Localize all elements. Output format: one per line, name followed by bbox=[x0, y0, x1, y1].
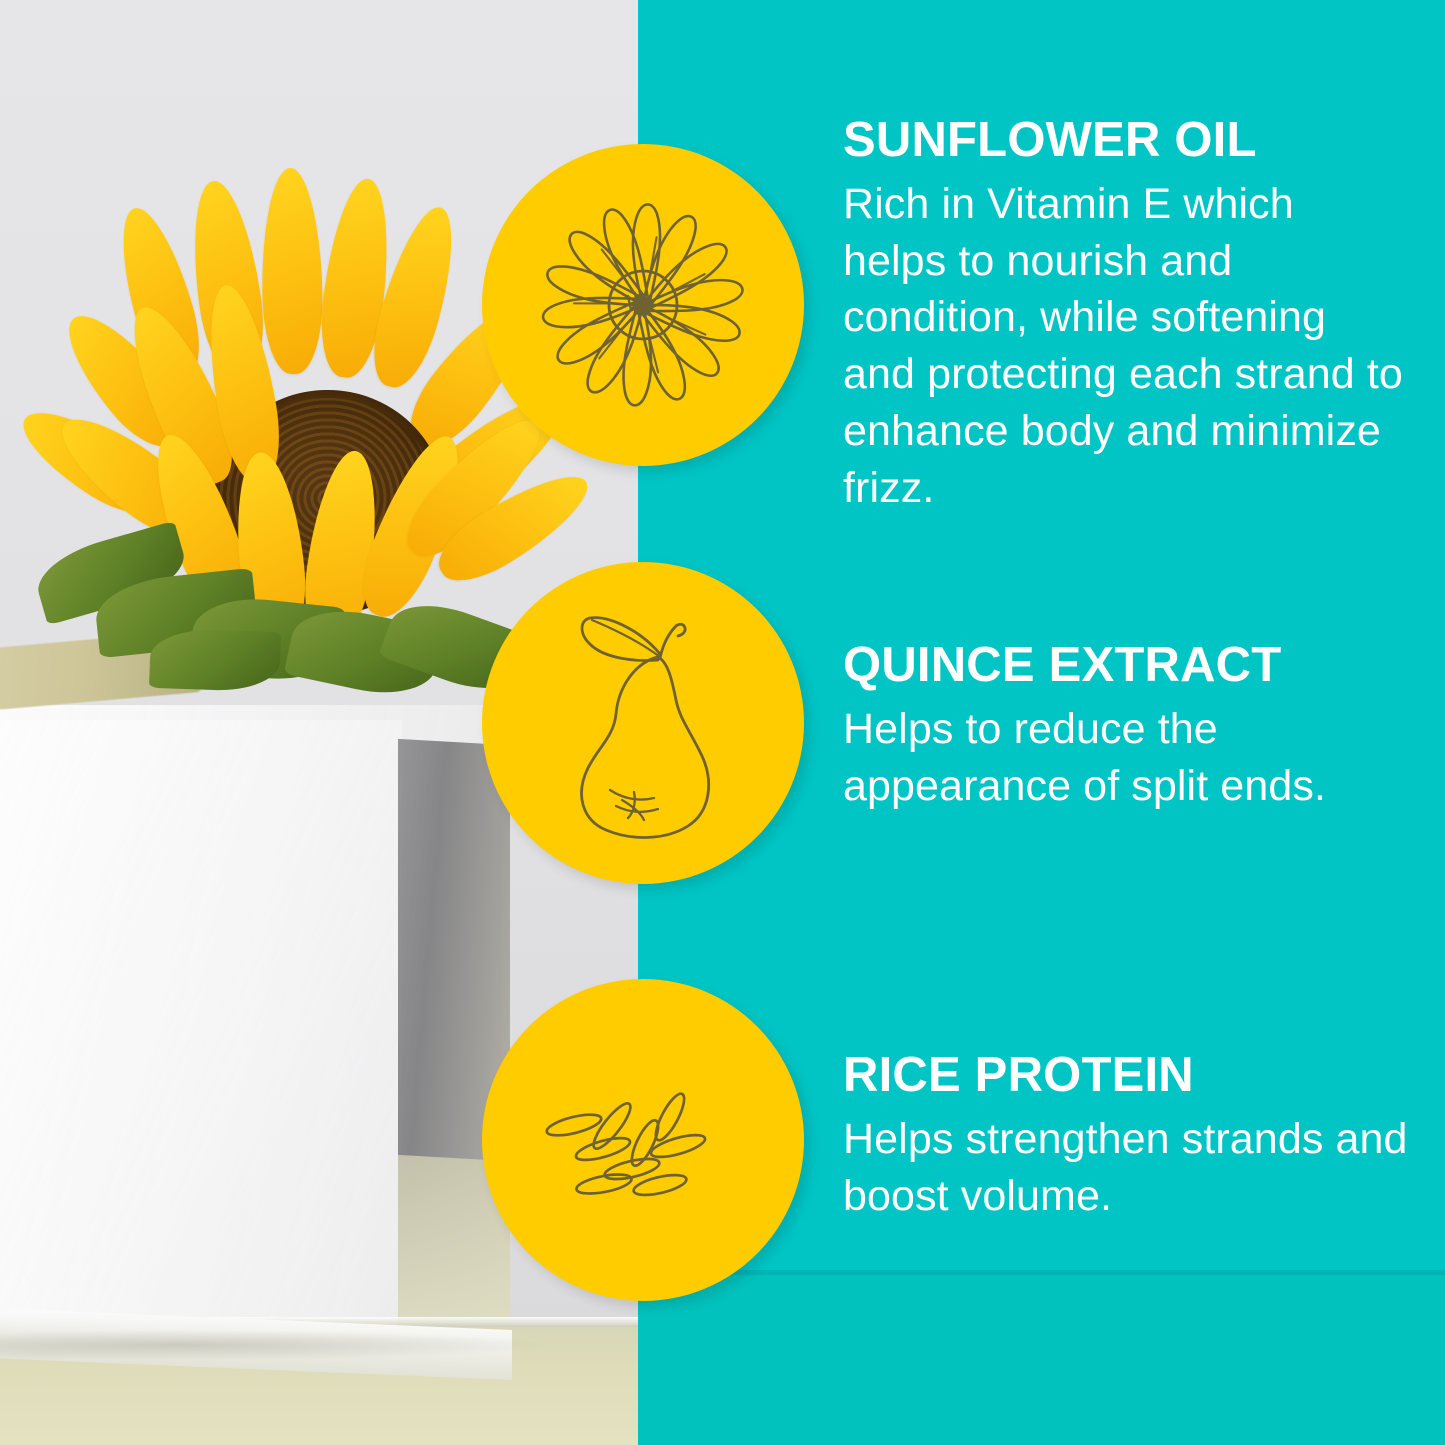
infographic-canvas: SUNFLOWER OIL Rich in Vitamin E which he… bbox=[0, 0, 1445, 1445]
ingredient-description: Helps strengthen strands and boost volum… bbox=[843, 1111, 1409, 1225]
ingredient-description: Helps to reduce the appearance of split … bbox=[843, 701, 1409, 815]
pear-quince-icon bbox=[482, 562, 804, 884]
ingredient-heading: SUNFLOWER OIL bbox=[843, 114, 1409, 167]
daisy-flower-icon bbox=[482, 144, 804, 466]
ingredient-badge-sunflower bbox=[482, 144, 804, 466]
ingredient-description: Rich in Vitamin E which helps to nourish… bbox=[843, 176, 1409, 517]
rice-grains-icon bbox=[482, 979, 804, 1301]
ingredient-badge-quince bbox=[482, 562, 804, 884]
ingredient-block-rice: RICE PROTEIN Helps strengthen strands an… bbox=[843, 1049, 1409, 1224]
ingredient-heading: RICE PROTEIN bbox=[843, 1049, 1409, 1102]
ingredient-heading: QUINCE EXTRACT bbox=[843, 639, 1409, 692]
acrylic-block-shadow bbox=[0, 1330, 540, 1360]
acrylic-block-front-face bbox=[0, 720, 402, 1330]
ingredient-badge-rice bbox=[482, 979, 804, 1301]
ingredient-block-quince: QUINCE EXTRACT Helps to reduce the appea… bbox=[843, 639, 1409, 814]
ingredient-block-sunflower: SUNFLOWER OIL Rich in Vitamin E which he… bbox=[843, 114, 1409, 516]
